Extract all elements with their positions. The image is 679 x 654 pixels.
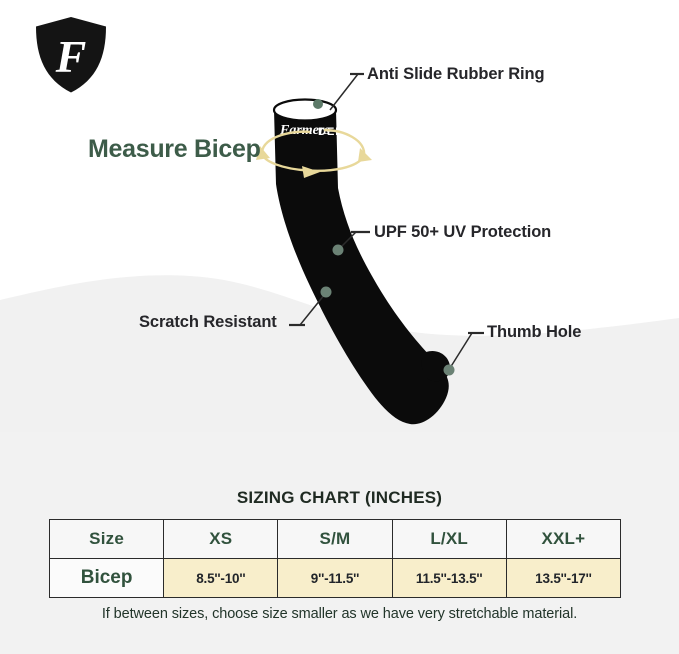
- table-header-row: Size XS S/M L/XL XXL+: [50, 520, 621, 559]
- callout-label-anti-slide: Anti Slide Rubber Ring: [367, 65, 544, 84]
- cell-bicep-lxl: 11.5''-13.5'': [392, 559, 506, 598]
- column-header-xxl: XXL+: [506, 520, 620, 559]
- sizing-table-wrapper: Size XS S/M L/XL XXL+ Bicep 8.5''-10'' 9…: [49, 519, 621, 598]
- callout-label-measure-bicep: Measure Bicep: [88, 135, 261, 164]
- cell-bicep-xxl: 13.5''-17'': [506, 559, 620, 598]
- infographic-canvas: F Farmers DEFENSE: [0, 0, 679, 654]
- sleeve-opening: [274, 100, 336, 121]
- table-row: Bicep 8.5''-10'' 9''-11.5'' 11.5''-13.5'…: [50, 559, 621, 598]
- shield-logo-icon: F: [29, 12, 113, 98]
- sizing-footnote: If between sizes, choose size smaller as…: [0, 606, 679, 622]
- tape-arrow-right: [358, 148, 372, 162]
- logo-letter: F: [55, 31, 87, 82]
- sleeve-brand-block: DEFENSE: [318, 126, 377, 138]
- cell-bicep-sm: 9''-11.5'': [278, 559, 392, 598]
- callout-label-upf: UPF 50+ UV Protection: [374, 223, 551, 242]
- column-header-lxl: L/XL: [392, 520, 506, 559]
- row-header-bicep: Bicep: [50, 559, 164, 598]
- column-header-xs: XS: [164, 520, 278, 559]
- callout-label-thumb-hole: Thumb Hole: [487, 323, 581, 342]
- callout-label-scratch-resistant: Scratch Resistant: [139, 313, 277, 332]
- sizing-chart-title: SIZING CHART (INCHES): [0, 488, 679, 508]
- arm-sleeve-illustration: Farmers DEFENSE: [240, 80, 490, 430]
- column-header-size: Size: [50, 520, 164, 559]
- column-header-sm: S/M: [278, 520, 392, 559]
- cell-bicep-xs: 8.5''-10'': [164, 559, 278, 598]
- sizing-table: Size XS S/M L/XL XXL+ Bicep 8.5''-10'' 9…: [49, 519, 621, 598]
